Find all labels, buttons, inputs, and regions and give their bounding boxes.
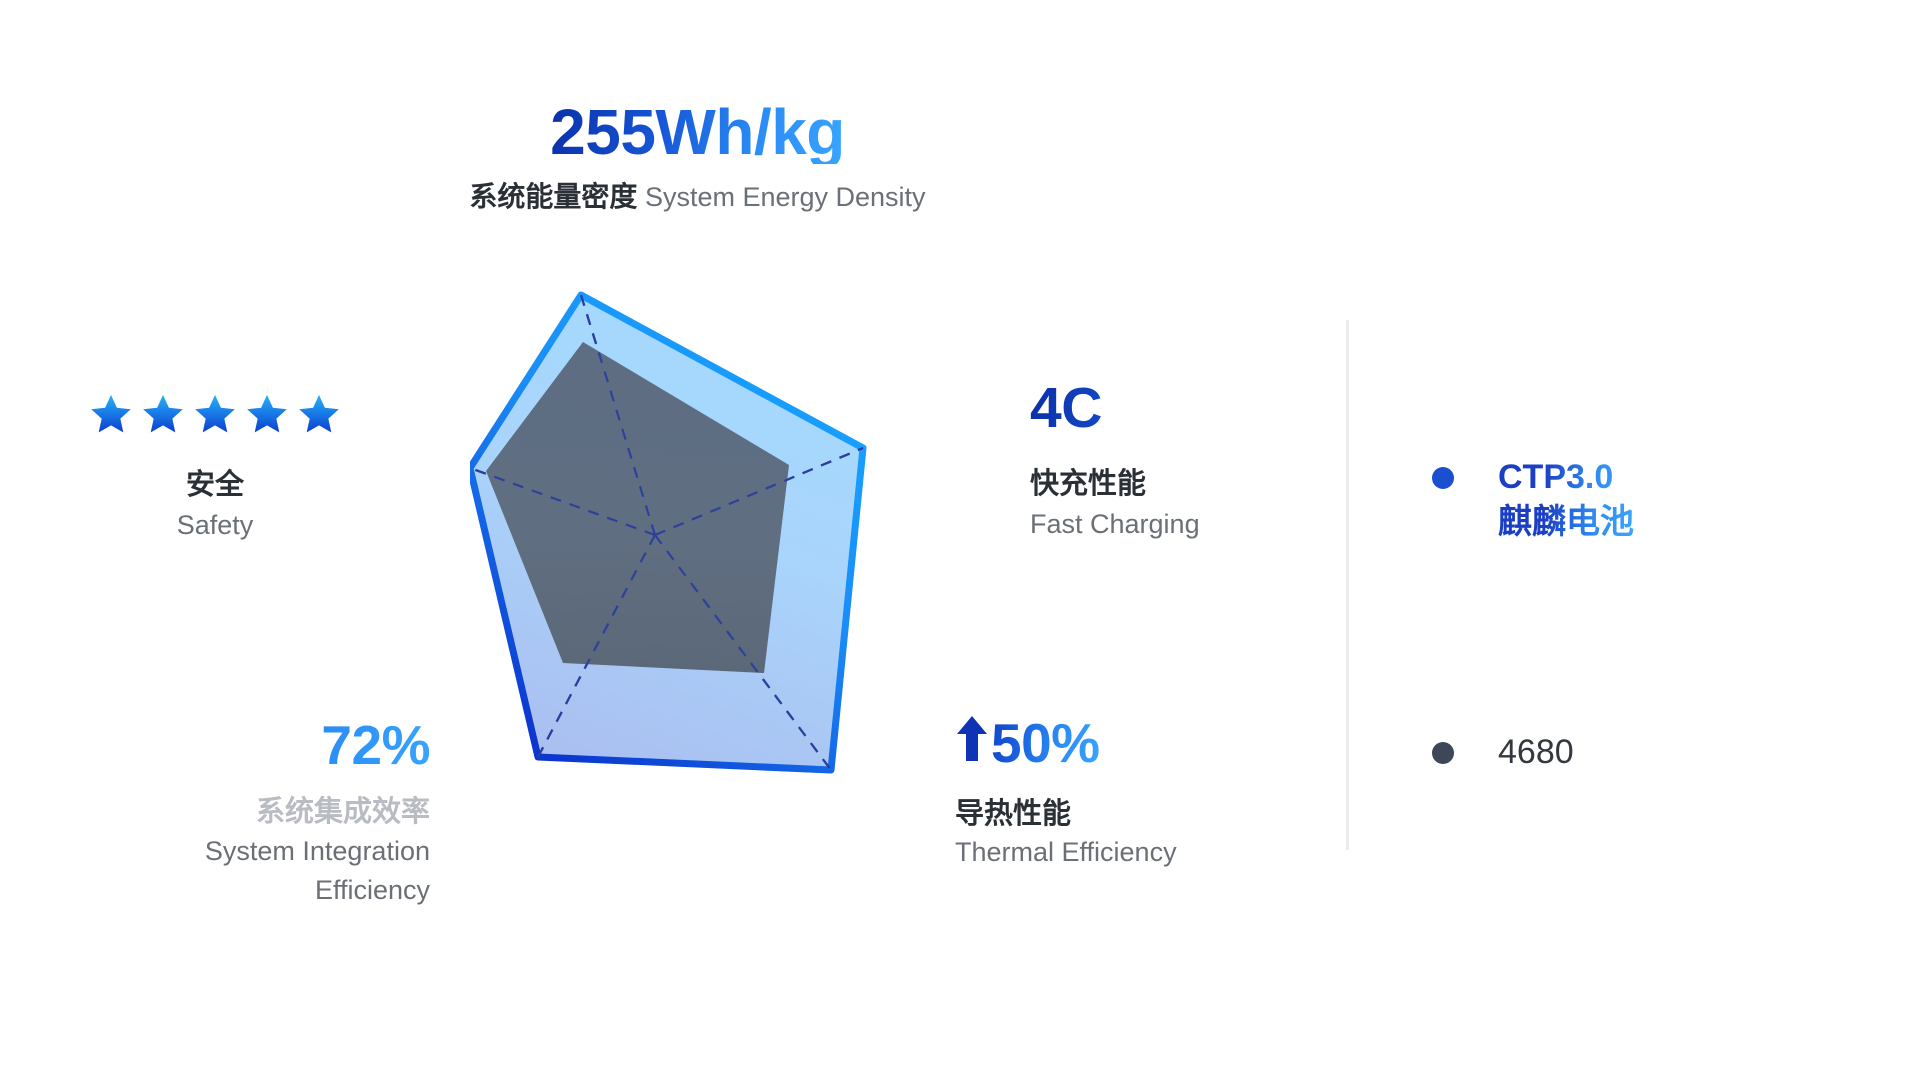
safety-label-en: Safety [0, 509, 430, 542]
chart-legend: CTP3.0 麒麟电池 4680 [1432, 455, 1634, 775]
legend-item-ctp30[interactable]: CTP3.0 麒麟电池 [1432, 455, 1634, 545]
energy-density-value: 255Wh/kg [550, 100, 845, 164]
legend-dot-icon [1432, 742, 1454, 764]
vertical-divider [1346, 320, 1349, 850]
legend-ctp30-line2: 麒麟电池 [1498, 500, 1634, 545]
star-icon [245, 392, 289, 436]
metric-energy-density: 255Wh/kg 系统能量密度 System Energy Density [0, 100, 1395, 214]
fast-charging-label-cn: 快充性能 [1030, 467, 1360, 502]
system-integration-label-en-line1: System Integration [60, 834, 430, 869]
legend-item-4680[interactable]: 4680 [1432, 730, 1634, 775]
system-integration-label-cn: 系统集成效率 [60, 795, 430, 830]
legend-ctp30-line1: CTP3.0 [1498, 455, 1634, 500]
metric-safety: 安全 Safety [0, 392, 430, 542]
fast-charging-label-en: Fast Charging [1030, 508, 1360, 541]
energy-density-label-cn: 系统能量密度 [469, 181, 637, 212]
metric-fast-charging: 4C 快充性能 Fast Charging [1030, 380, 1360, 541]
metric-system-integration: 72% 系统集成效率 System Integration Efficiency [60, 718, 430, 907]
energy-density-label-en: System Energy Density [645, 182, 926, 212]
star-icon [297, 392, 341, 436]
energy-density-caption: 系统能量密度 System Energy Density [0, 180, 1395, 214]
system-integration-label-en-line2: Efficiency [60, 873, 430, 908]
star-icon [141, 392, 185, 436]
legend-dot-icon [1432, 467, 1454, 489]
safety-label-cn: 安全 [0, 468, 430, 503]
system-integration-value: 72% [60, 718, 430, 773]
radar-chart-svg [470, 280, 1030, 840]
infographic-canvas: 255Wh/kg 系统能量密度 System Energy Density [0, 0, 1920, 1080]
radar-chart [470, 280, 1030, 845]
fast-charging-value: 4C [1030, 380, 1360, 437]
star-rating [0, 392, 430, 436]
legend-4680-line1: 4680 [1498, 730, 1574, 775]
star-icon [89, 392, 133, 436]
star-icon [193, 392, 237, 436]
